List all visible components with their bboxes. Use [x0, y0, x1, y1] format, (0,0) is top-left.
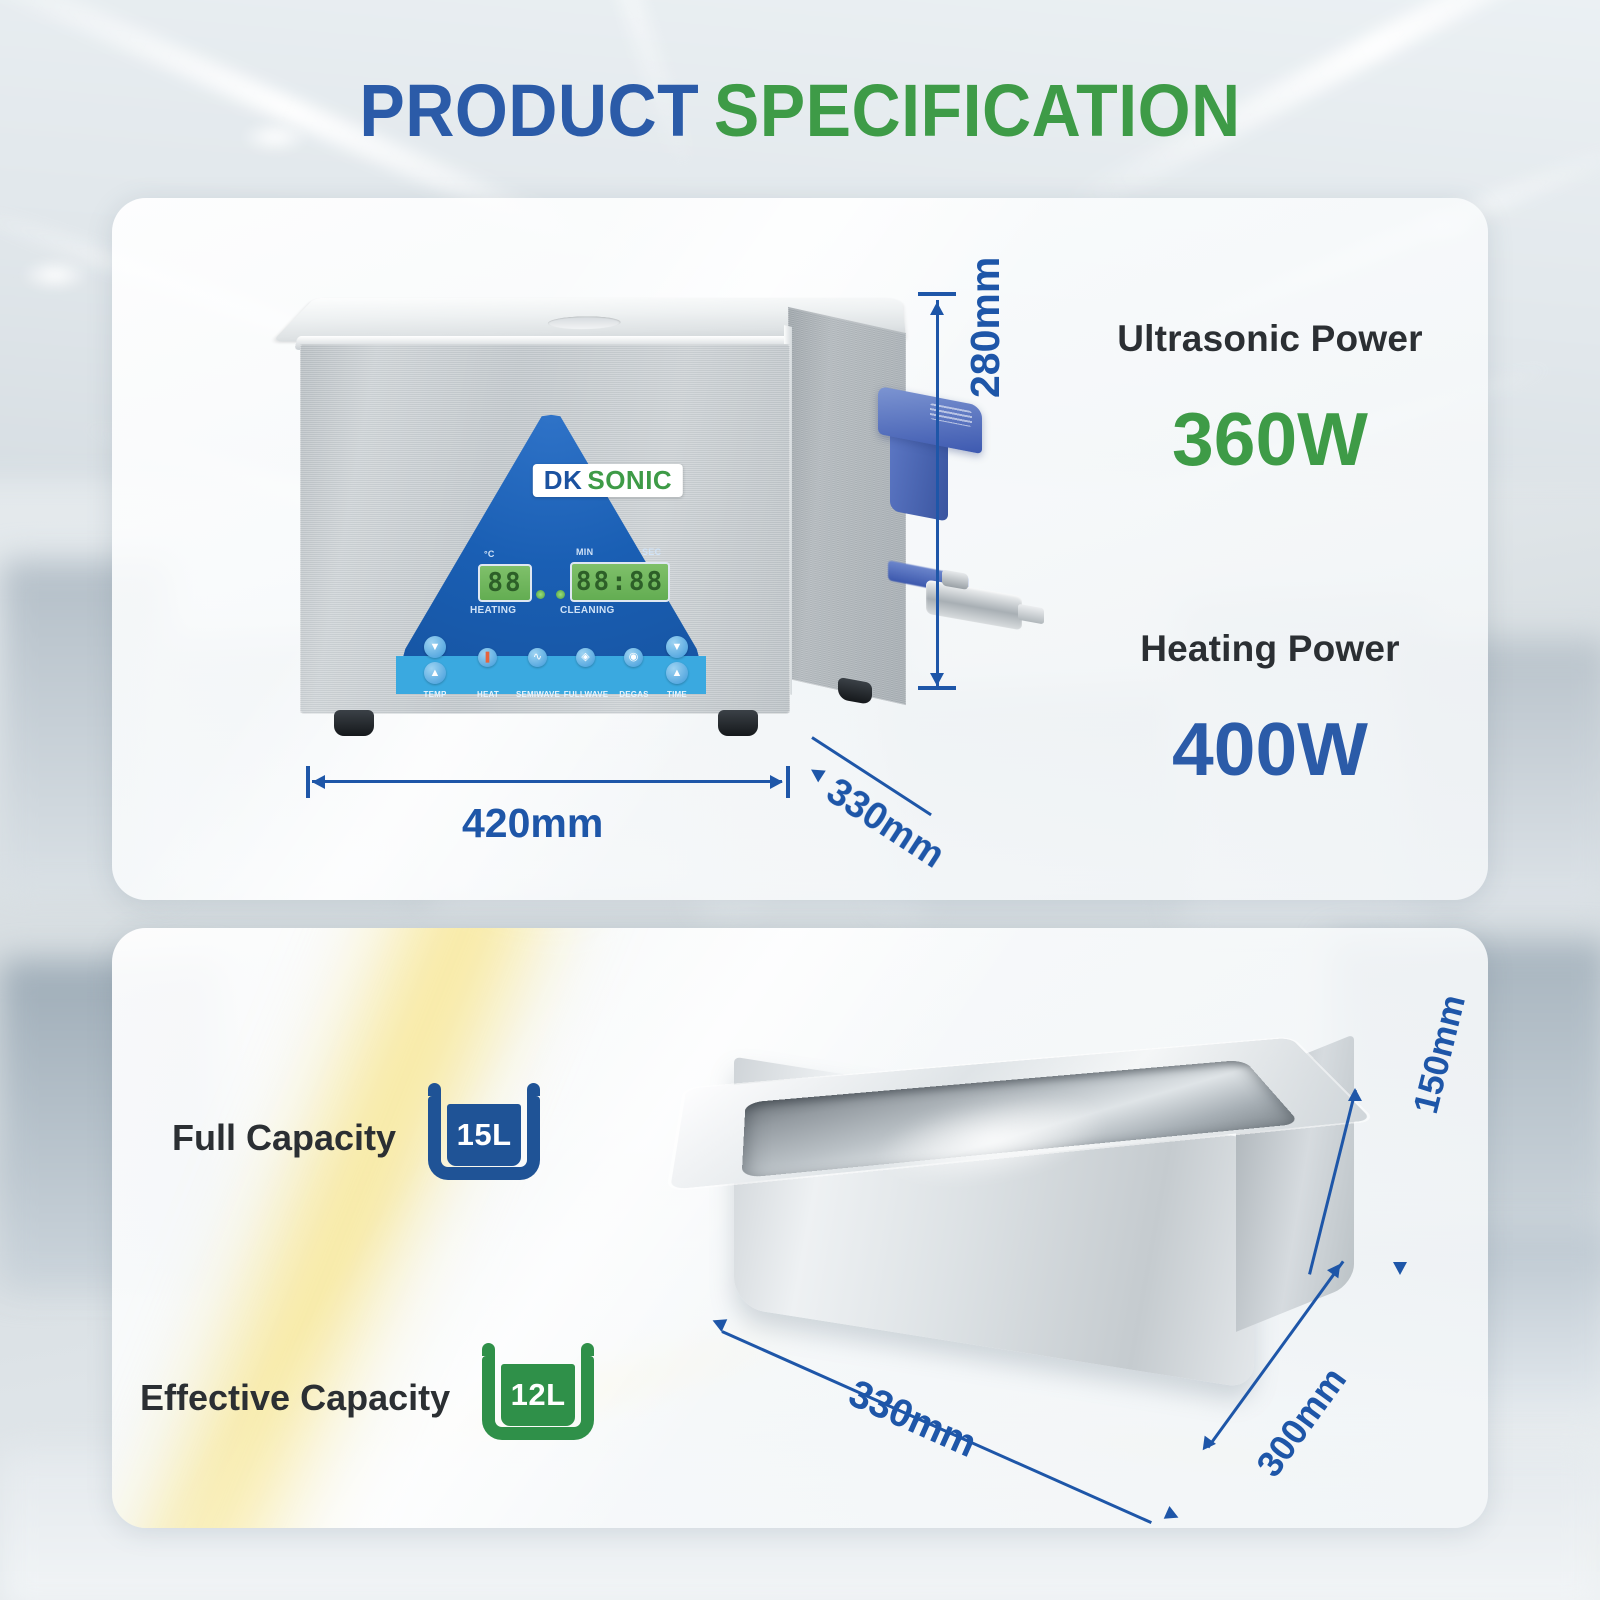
tank-capacity-icon: 12L	[482, 1350, 594, 1446]
button-temp-up-icon[interactable]: ▲	[424, 662, 446, 684]
button-label-temp: TEMP	[423, 690, 446, 699]
capacity-full-label: Full Capacity	[172, 1117, 396, 1159]
capacity-row-full: Full Capacity 15L	[172, 1090, 540, 1186]
dim-height-arrow-bottom	[930, 673, 944, 686]
spec-ultrasonic-label: Ultrasonic Power	[1040, 318, 1500, 360]
capacity-row-effective: Effective Capacity 12L	[140, 1350, 594, 1446]
button-time-up-icon[interactable]: ▲	[666, 662, 688, 684]
dim-tank-depth-arrow-top	[1348, 1088, 1362, 1101]
machine-foot-right	[718, 710, 758, 736]
degas-bubble-icon[interactable]: ◉	[624, 648, 643, 667]
spec-ultrasonic-value: 360W	[1040, 402, 1500, 477]
dim-width-label: 420mm	[462, 800, 603, 847]
button-label-time: TIME	[667, 690, 687, 699]
dim-height-tick-bottom	[918, 686, 956, 690]
dim-height-line	[936, 300, 939, 688]
time-sec-label: SEC	[642, 547, 661, 557]
control-button-row: ▼ ▲ ❚ ∿ ◈ ◉ ▼ ▲ TEMP HEAT SEMIWAVE FULLW…	[420, 636, 690, 694]
button-time-down-icon[interactable]: ▼	[666, 636, 688, 658]
dim-width-tick-right	[786, 766, 790, 798]
button-label-degas: DEGAS	[619, 690, 648, 699]
machine-foot-back	[838, 677, 872, 705]
timer-display: 88:88	[570, 562, 670, 602]
heating-label: HEATING	[470, 605, 516, 616]
temperature-display: 88	[478, 564, 532, 602]
brand-logo: DKSONIC	[533, 464, 683, 497]
machine-side-panel	[788, 307, 906, 705]
cleaning-indicator-led	[556, 590, 565, 599]
dim-height-label: 280mm	[962, 257, 1009, 398]
dim-width-line	[312, 780, 782, 783]
spec-heating-label: Heating Power	[1040, 628, 1500, 670]
thermometer-icon[interactable]: ❚	[478, 648, 497, 667]
half-wave-icon[interactable]: ∿	[528, 648, 547, 667]
capacity-effective-label: Effective Capacity	[140, 1377, 450, 1419]
button-label-semiwave: SEMIWAVE	[516, 690, 560, 699]
capacity-effective-value: 12L	[511, 1377, 566, 1413]
button-temp-down-icon[interactable]: ▼	[424, 636, 446, 658]
dim-width-arrow-left	[312, 775, 325, 789]
button-label-fullwave: FULLWAVE	[564, 690, 609, 699]
dim-width-tick-left	[306, 766, 310, 798]
ultrasonic-cleaner-illustration: DKSONIC °C MIN SEC 88 88:88 HEATING CLEA…	[278, 268, 938, 768]
stainless-tank-illustration	[676, 980, 1396, 1420]
spec-heating-value: 400W	[1040, 712, 1500, 787]
brand-sonic: SONIC	[587, 465, 672, 495]
brand-dk: DK	[544, 465, 583, 495]
time-min-label: MIN	[576, 547, 593, 557]
dim-width-arrow-right	[770, 775, 783, 789]
capacity-full-value: 15L	[457, 1117, 512, 1153]
button-label-heat: HEAT	[477, 690, 499, 699]
tank-capacity-icon: 15L	[428, 1090, 540, 1186]
page-title: PRODUCTSPECIFICATION	[64, 68, 1536, 153]
spec-heating-power: Heating Power 400W	[1040, 628, 1500, 787]
machine-foot-left	[334, 710, 374, 736]
dim-height-arrow-top	[930, 302, 944, 315]
dim-tank-depth-arrow-bottom	[1393, 1262, 1407, 1275]
heating-indicator-led	[536, 590, 545, 599]
title-part-specification: SPECIFICATION	[714, 69, 1241, 152]
title-part-product: PRODUCT	[359, 69, 699, 152]
spec-ultrasonic-power: Ultrasonic Power 360W	[1040, 318, 1500, 477]
cleaning-label: CLEANING	[560, 605, 615, 616]
full-wave-icon[interactable]: ◈	[576, 648, 595, 667]
temp-unit-label: °C	[484, 549, 495, 559]
dim-height-tick-top	[918, 292, 956, 296]
